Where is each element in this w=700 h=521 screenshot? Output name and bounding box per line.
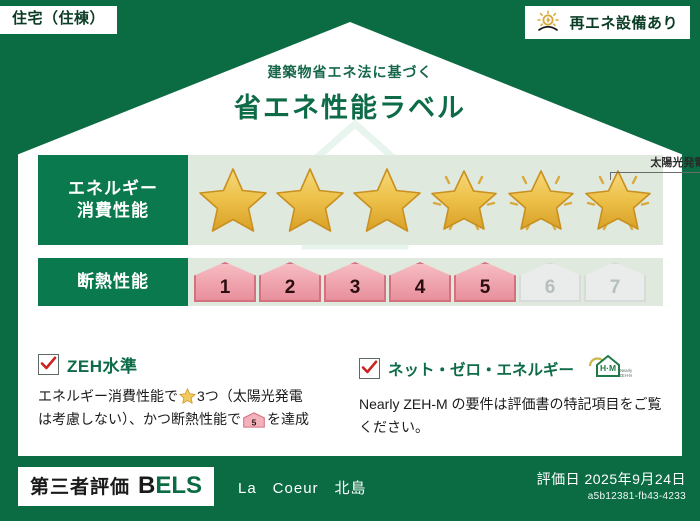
third-party-eval-label: 第三者評価	[30, 472, 130, 499]
bels-certification-chip: 第三者評価 BELS	[18, 467, 214, 506]
inline-star-icon	[179, 388, 196, 404]
star-5	[502, 160, 579, 240]
energy-star-track: 太陽光発電(自家消費)分	[188, 155, 663, 245]
insulation-performance-label: 断熱性能	[38, 258, 188, 306]
zeh-standard-section: ZEH水準 エネルギー消費性能で3つ（太陽光発電は考慮しない）、かつ断熱性能で5…	[38, 352, 345, 438]
sun-icon	[535, 10, 561, 34]
energy-performance-label: エネルギー 消費性能	[38, 155, 188, 245]
building-name: La Coeur 北島	[238, 477, 367, 498]
check-icon	[40, 355, 57, 372]
performance-rows: エネルギー 消費性能	[38, 155, 663, 306]
energy-label-line2: 消費性能	[77, 200, 149, 222]
bels-logo-els: ELS	[155, 472, 202, 499]
insulation-grade-4: 4	[389, 262, 451, 302]
inline-grade-badge: 5	[243, 415, 265, 431]
insulation-grade-1: 1	[194, 262, 256, 302]
svg-text:H·M: H·M	[600, 363, 616, 373]
label-footer: 第三者評価 BELS La Coeur 北島 評価日 2025年9月24日 a5…	[0, 459, 700, 521]
zeh-standard-header: ZEH水準	[38, 352, 345, 377]
insulation-performance-row: 断熱性能 1 2 3	[38, 258, 663, 306]
insulation-grades: 1 2 3 4 5	[188, 262, 646, 302]
grade-number: 2	[285, 277, 296, 299]
zeh-m-logo: H·M Nearly ZEH-M	[586, 352, 632, 385]
renewable-badge-label: 再エネ設備あり	[569, 12, 678, 33]
star-rating	[192, 160, 656, 240]
insulation-grade-5: 5	[454, 262, 516, 302]
star-3	[348, 160, 425, 240]
net-zero-energy-title: ネット・ゼロ・エネルギー	[388, 358, 574, 380]
insulation-grade-6: 6	[519, 262, 581, 302]
label-subtitle: 建築物省エネ法に基づく	[0, 62, 700, 82]
evaluation-date: 評価日 2025年9月24日	[537, 469, 686, 489]
bels-logo: BELS	[138, 472, 202, 500]
insulation-grade-7: 7	[584, 262, 646, 302]
star-6	[579, 160, 656, 240]
zeh-standard-title: ZEH水準	[67, 352, 138, 377]
grade-number: 5	[480, 277, 491, 299]
star-1	[194, 160, 271, 240]
grade-number: 3	[350, 277, 361, 299]
grade-number: 1	[220, 277, 231, 299]
zeh-standard-checkbox	[38, 354, 59, 375]
grade-number: 7	[610, 277, 621, 299]
grade-number: 6	[545, 277, 556, 299]
grade-number: 4	[415, 277, 426, 299]
svg-text:5: 5	[252, 417, 257, 427]
energy-performance-row: エネルギー 消費性能	[38, 155, 663, 245]
renewable-energy-badge: 再エネ設備あり	[525, 6, 690, 39]
zeh-body-part4: を達成	[267, 411, 309, 427]
zeh-body-part1: エネルギー消費性能で	[38, 388, 178, 404]
star-2	[271, 160, 348, 240]
energy-label-line1: エネルギー	[68, 178, 158, 200]
insulation-label-text: 断熱性能	[77, 271, 149, 293]
insulation-grade-track: 1 2 3 4 5	[188, 258, 663, 306]
star-4	[425, 160, 502, 240]
dwelling-type-chip: 住宅（住棟）	[0, 6, 117, 34]
net-zero-energy-header: ネット・ゼロ・エネルギー H·M Nearly ZEH-M	[359, 352, 666, 385]
svg-text:ZEH-M: ZEH-M	[619, 373, 632, 378]
check-icon	[361, 359, 378, 376]
bels-logo-b: B	[138, 472, 155, 499]
evaluation-info: 評価日 2025年9月24日 a5b12381-fb43-4233	[537, 469, 686, 502]
energy-performance-label: 住宅（住棟） 再エネ設備あり 建築物省エネ法に基づく 省エネ性能ラベル エネルギ…	[0, 0, 700, 521]
label-title: 省エネ性能ラベル	[0, 86, 700, 125]
label-title-block: 建築物省エネ法に基づく 省エネ性能ラベル	[0, 62, 700, 125]
zeh-body-part2: 3つ（太陽光発電	[197, 388, 303, 404]
net-zero-energy-section: ネット・ゼロ・エネルギー H·M Nearly ZEH-M Nearly ZEH…	[359, 352, 666, 438]
zeh-body-part3: は考慮しない）、かつ断熱性能で	[38, 411, 241, 427]
evaluation-id: a5b12381-fb43-4233	[537, 491, 686, 502]
net-zero-energy-checkbox	[359, 358, 380, 379]
net-zero-energy-body: Nearly ZEH-M の要件は評価書の特記項目をご覧ください。	[359, 393, 666, 438]
insulation-grade-3: 3	[324, 262, 386, 302]
zeh-standard-body: エネルギー消費性能で3つ（太陽光発電は考慮しない）、かつ断熱性能で5を達成	[38, 385, 345, 434]
info-sections: ZEH水準 エネルギー消費性能で3つ（太陽光発電は考慮しない）、かつ断熱性能で5…	[38, 352, 666, 438]
insulation-grade-2: 2	[259, 262, 321, 302]
